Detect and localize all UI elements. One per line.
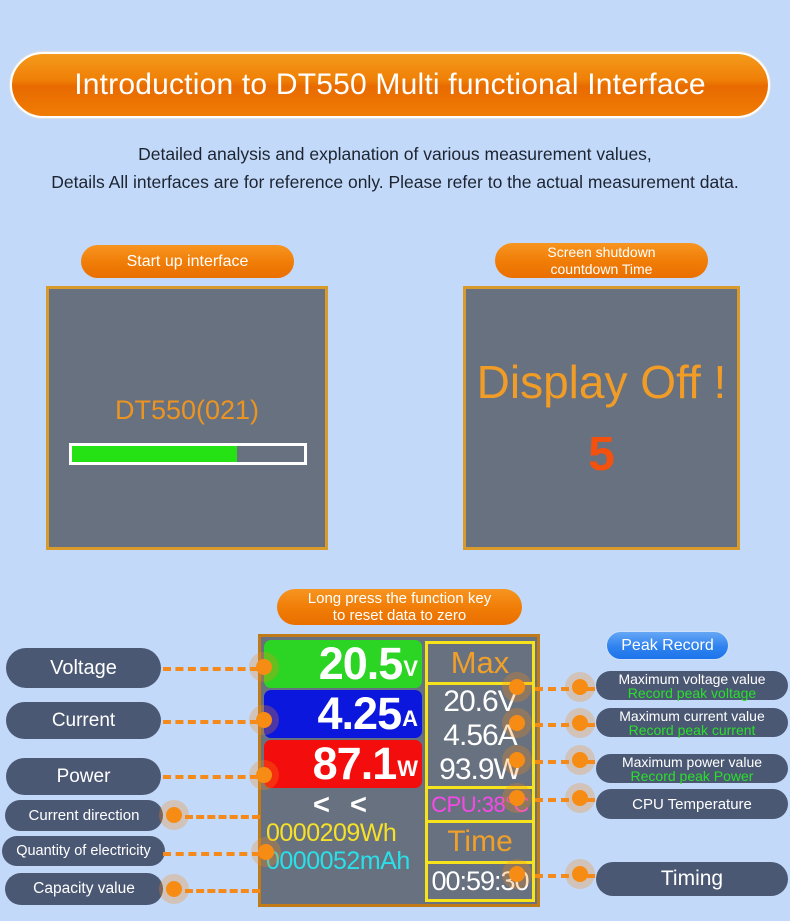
current-value: 4.25 [318,692,402,736]
connector-dot-power [256,767,272,783]
peak-record-label: Peak Record [621,637,714,655]
reset-hint-line-2: to reset data to zero [308,607,491,624]
label-maximum-power-title: Maximum power value [622,755,762,769]
connector-line-capacity [185,889,260,893]
connector-line-current [163,720,258,724]
startup-progress-bar [69,443,307,465]
label-cpu-temperature-text: CPU Temperature [632,796,752,813]
label-power-text: Power [57,766,111,788]
label-current-text: Current [52,710,115,732]
energy-value: 0000209Wh [264,819,422,847]
connector-line-power [163,775,258,779]
label-timing: Timing [596,862,788,896]
label-maximum-current-title: Maximum current value [619,709,765,723]
label-quantity-of-electricity-text: Quantity of electricity [16,843,151,859]
subtitle-block: Detailed analysis and explanation of var… [0,140,790,196]
current-unit: A [402,704,418,734]
connector-dot-max-current [572,715,588,731]
label-maximum-voltage-title: Maximum voltage value [618,672,765,686]
connector-dot-cpu [572,790,588,806]
power-reading-bar: 87.1 W [264,740,422,788]
startup-screen: DT550(021) [46,286,328,550]
label-current-direction: Current direction [5,800,163,831]
capacity-value: 0000052mAh [264,847,422,875]
meter-dot-max-current [509,715,525,731]
label-voltage-text: Voltage [50,657,117,680]
meter-primary-readings: 20.5 V 4.25 A 87.1 W < < 0000209Wh 00000… [264,640,422,902]
voltage-value: 20.5 [319,642,403,686]
main-meter-display: 20.5 V 4.25 A 87.1 W < < 0000209Wh 00000… [258,634,540,907]
meter-dot-cpu [509,790,525,806]
startup-model-text: DT550(021) [49,395,325,426]
meter-dot-max-power [509,752,525,768]
label-current: Current [6,702,161,739]
caption-shutdown-line-1: Screen shutdown [547,244,655,261]
connector-line-voltage [163,667,258,671]
power-unit: W [397,754,418,784]
caption-screen-shutdown: Screen shutdown countdown Time [495,243,708,278]
label-maximum-current: Maximum current value Record peak curren… [596,708,788,737]
connector-dot-voltage [256,659,272,675]
label-capacity-value-text: Capacity value [33,880,135,898]
connector-dot-capacity [166,881,182,897]
label-capacity-value: Capacity value [5,873,163,905]
shutdown-screen: Display Off ! 5 [463,286,740,550]
connector-dot-quantity [258,844,274,860]
page-title: Introduction to DT550 Multi functional I… [74,68,706,102]
label-timing-text: Timing [661,867,723,891]
connector-dot-current-direction [166,807,182,823]
max-values-group: 20.6V 4.56A 93.9W [428,685,532,789]
startup-progress-fill [72,446,237,462]
connector-dot-max-power [572,752,588,768]
reset-hint-line-1: Long press the function key [308,590,491,607]
label-maximum-power-sub: Record peak Power [631,769,754,783]
current-direction-arrows: < < [264,791,422,819]
caption-startup-interface: Start up interface [81,245,294,278]
label-maximum-current-sub: Record peak current [629,723,756,737]
display-off-message: Display Off ! [466,355,737,409]
reset-data-hint: Long press the function key to reset dat… [277,589,522,625]
label-current-direction-text: Current direction [29,807,140,824]
subtitle-line-2: Details All interfaces are for reference… [0,168,790,196]
caption-startup-label: Start up interface [127,253,249,270]
label-maximum-power: Maximum power value Record peak Power [596,754,788,783]
connector-dot-current [256,712,272,728]
power-value: 87.1 [313,742,397,786]
connector-dot-max-voltage [572,679,588,695]
label-quantity-of-electricity: Quantity of electricity [2,836,165,866]
connector-dot-timing [572,866,588,882]
current-reading-bar: 4.25 A [264,690,422,738]
peak-record-badge: Peak Record [606,631,729,660]
connector-line-current-direction [185,815,260,819]
label-power: Power [6,758,161,795]
page-title-banner: Introduction to DT550 Multi functional I… [10,52,770,118]
voltage-unit: V [403,654,418,684]
voltage-reading-bar: 20.5 V [264,640,422,688]
label-cpu-temperature: CPU Temperature [596,789,788,819]
label-maximum-voltage-sub: Record peak voltage [628,686,756,700]
meter-dot-max-voltage [509,679,525,695]
label-maximum-voltage: Maximum voltage value Record peak voltag… [596,671,788,700]
subtitle-line-1: Detailed analysis and explanation of var… [0,140,790,168]
time-header: Time [428,823,532,864]
connector-line-quantity [163,852,260,856]
meter-dot-timing [509,866,525,882]
display-off-countdown: 5 [466,427,737,482]
label-voltage: Voltage [6,648,161,688]
caption-shutdown-line-2: countdown Time [547,261,655,278]
